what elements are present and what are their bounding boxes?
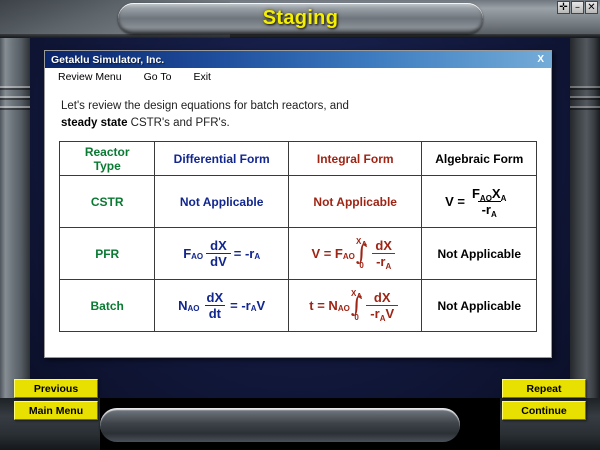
table-row: CSTR Not Applicable Not Applicable V = F… — [60, 176, 537, 228]
cell-cstr-differential: Not Applicable — [155, 176, 289, 228]
formula-denominator: dV — [206, 253, 231, 269]
simulator-close-button[interactable]: X — [534, 54, 547, 65]
cell-reactor-cstr: CSTR — [60, 176, 155, 228]
menu-item-exit[interactable]: Exit — [190, 70, 214, 84]
cell-cstr-integral: Not Applicable — [288, 176, 422, 228]
page-title: Staging — [263, 7, 338, 30]
formula-coef-sub: AO — [191, 252, 203, 261]
formula-numerator: dX — [206, 239, 231, 254]
formula-denominator: dt — [205, 305, 225, 321]
formula-num-x-sub: A — [501, 194, 507, 203]
formula-num-f: F — [472, 186, 480, 201]
formula-denominator-tail: V — [385, 306, 394, 321]
cell-cstr-algebraic: V = FAOXA -rA — [422, 176, 537, 228]
formula-num-f-sub: AO — [480, 194, 492, 203]
menu-item-go-to[interactable]: Go To — [141, 70, 175, 84]
cell-reactor-pfr: PFR — [60, 228, 155, 280]
cell-batch-differential: NAO dX dt = -rAV — [155, 280, 289, 332]
header-line-1: Reactor — [85, 145, 130, 159]
formula-num-x: X — [492, 186, 501, 201]
cell-reactor-batch: Batch — [60, 280, 155, 332]
cell-batch-integral: t = NAO XA ∫ 0 dX -rAV — [288, 280, 422, 332]
integral-symbol: XA ∫ 0 — [356, 238, 367, 270]
intro-text: Let's review the design equations for ba… — [61, 98, 537, 131]
intro-line-2: CSTR's and PFR's. — [127, 117, 229, 129]
column-header-integral-form: Integral Form — [288, 142, 422, 176]
header-line-2: Type — [94, 159, 121, 173]
simulator-window: Getaklu Simulator, Inc. X Review Menu Go… — [44, 50, 552, 358]
formula-rhs-tail: V — [257, 298, 266, 313]
formula-rhs-sub: A — [254, 252, 260, 261]
cell-pfr-differential: FAO dX dV = -rA — [155, 228, 289, 280]
continue-button[interactable]: Continue — [502, 401, 586, 420]
formula-lhs: V = — [445, 194, 465, 209]
simulator-content: Let's review the design equations for ba… — [45, 86, 551, 357]
formula-den-r-sub: A — [491, 210, 497, 219]
close-icon[interactable]: ✕ — [585, 1, 598, 14]
column-header-reactor-type: Reactor Type — [60, 142, 155, 176]
integral-upper-limit-sub: A — [356, 292, 362, 301]
column-header-algebraic-form: Algebraic Form — [422, 142, 537, 176]
cell-pfr-algebraic: Not Applicable — [422, 228, 537, 280]
formula-lhs: t = N — [309, 298, 338, 313]
formula-coef: N — [178, 298, 187, 313]
minimize-icon[interactable]: – — [571, 1, 584, 14]
formula-coef: F — [183, 246, 191, 261]
table-row: Batch NAO dX dt = -rAV — [60, 280, 537, 332]
simulator-titlebar[interactable]: Getaklu Simulator, Inc. X — [45, 51, 551, 68]
design-equations-table: Reactor Type Differential Form Integral … — [59, 141, 537, 332]
application-root: Staging ✛ – ✕ Getaklu Simulator, Inc. X … — [0, 0, 600, 450]
staging-banner: Staging — [118, 3, 483, 34]
repeat-button[interactable]: Repeat — [502, 379, 586, 398]
integral-symbol: XA ∫ 0 — [351, 290, 362, 322]
formula-den-r: -r — [482, 202, 491, 217]
formula-lhs-sub: AO — [338, 304, 350, 313]
cell-pfr-integral: V = FAO XA ∫ 0 dX -rA — [288, 228, 422, 280]
table-header-row: Reactor Type Differential Form Integral … — [60, 142, 537, 176]
formula-numerator: dX — [203, 291, 228, 306]
formula-numerator: dX — [370, 291, 395, 306]
integral-lower-limit: 0 — [354, 314, 358, 322]
simulator-menubar: Review Menu Go To Exit — [45, 68, 551, 86]
cell-batch-algebraic: Not Applicable — [422, 280, 537, 332]
formula-lhs-sub: AO — [343, 252, 355, 261]
formula-denominator: -r — [370, 306, 379, 321]
column-header-differential-form: Differential Form — [155, 142, 289, 176]
bottom-handle-capsule — [100, 408, 460, 442]
formula-denominator-sub: A — [385, 262, 391, 271]
integral-upper-limit-sub: A — [361, 240, 367, 249]
formula-numerator: dX — [371, 239, 396, 254]
move-icon[interactable]: ✛ — [557, 1, 570, 14]
formula-coef-sub: AO — [188, 304, 200, 313]
window-controls: ✛ – ✕ — [557, 1, 598, 14]
formula-rhs: = -r — [234, 246, 255, 261]
intro-bold-phrase: steady state — [61, 117, 127, 129]
main-menu-button[interactable]: Main Menu — [14, 401, 98, 420]
formula-rhs: = -r — [230, 298, 251, 313]
integral-lower-limit: 0 — [359, 262, 363, 270]
simulator-title: Getaklu Simulator, Inc. — [51, 54, 164, 66]
formula-rhs-sub: A — [251, 304, 257, 313]
formula-lhs: V = F — [311, 246, 342, 261]
formula-denominator-sub: A — [380, 314, 386, 323]
previous-button[interactable]: Previous — [14, 379, 98, 398]
table-row: PFR FAO dX dV = -rA — [60, 228, 537, 280]
menu-item-review-menu[interactable]: Review Menu — [55, 70, 125, 84]
intro-line-1: Let's review the design equations for ba… — [61, 100, 349, 112]
